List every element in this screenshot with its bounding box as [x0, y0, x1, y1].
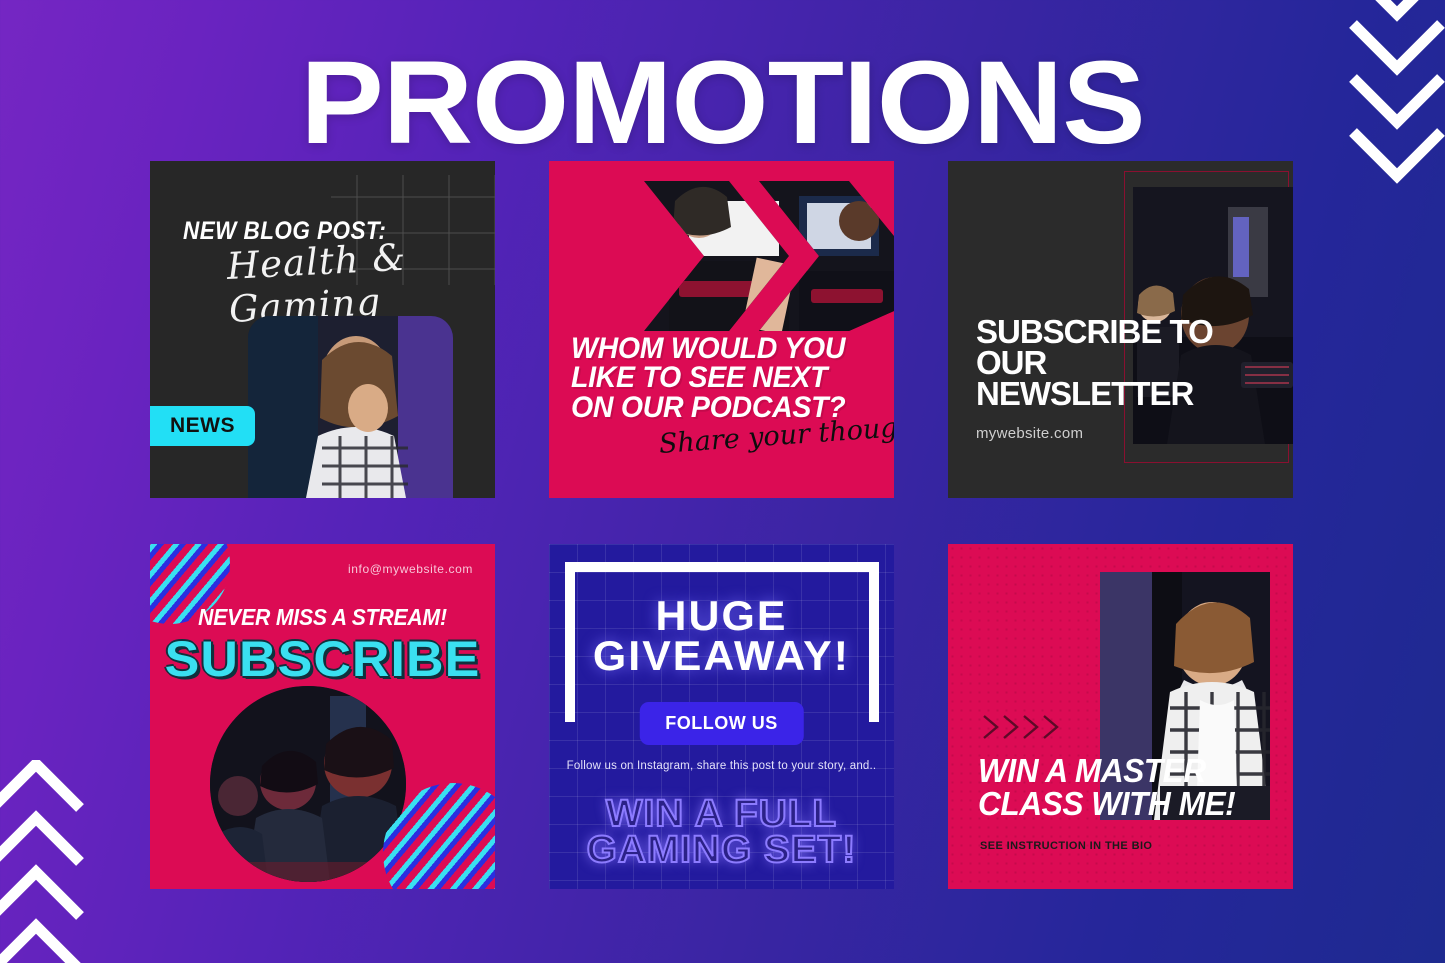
- stream-kicker: NEVER MISS A STREAM!: [164, 604, 481, 631]
- podcast-arrow-photo: [549, 161, 894, 351]
- promo-card-masterclass[interactable]: WIN A MASTER CLASS WITH ME! SEE INSTRUCT…: [948, 544, 1293, 889]
- promo-card-podcast[interactable]: WHOM WOULD YOU LIKE TO SEE NEXT ON OUR P…: [549, 161, 894, 498]
- newsletter-url: mywebsite.com: [976, 425, 1083, 442]
- giveaway-note: Follow us on Instagram, share this post …: [549, 758, 894, 775]
- giveaway-prize: WIN A FULL GAMING SET!: [549, 796, 894, 869]
- newsletter-headline: SUBSCRIBE TO OUR NEWSLETTER: [976, 316, 1216, 409]
- promo-card-never-miss-stream[interactable]: info@mywebsite.com NEVER MISS A STREAM! …: [150, 544, 495, 889]
- stream-circle-photo: [210, 686, 406, 882]
- promo-card-giveaway[interactable]: HUGE GIVEAWAY! FOLLOW US Follow us on In…: [549, 544, 894, 889]
- page-title: PROMOTIONS: [0, 44, 1445, 162]
- promo-card-grid: NEW BLOG POST: Health & Gaming: [150, 161, 1295, 889]
- promo-row-bottom: info@mywebsite.com NEVER MISS A STREAM! …: [150, 544, 1295, 889]
- stream-email: info@mywebsite.com: [348, 562, 473, 576]
- chevron-right-decoration: [980, 712, 1072, 742]
- follow-us-button[interactable]: FOLLOW US: [639, 702, 803, 745]
- masterclass-note: SEE INSTRUCTION IN THE BIO: [980, 840, 1152, 852]
- promo-card-newsletter[interactable]: SUBSCRIBE TO OUR NEWSLETTER mywebsite.co…: [948, 161, 1293, 498]
- blog-photo: [248, 316, 453, 498]
- podcast-headline: WHOM WOULD YOU LIKE TO SEE NEXT ON OUR P…: [571, 334, 866, 422]
- stream-headline: SUBSCRIBE: [150, 630, 495, 688]
- news-badge[interactable]: NEWS: [150, 406, 255, 446]
- masterclass-headline: WIN A MASTER CLASS WITH ME!: [978, 754, 1256, 820]
- giveaway-headline: HUGE GIVEAWAY!: [549, 596, 894, 676]
- chevron-up-stack-decoration: [0, 760, 110, 963]
- promo-card-blog-post[interactable]: NEW BLOG POST: Health & Gaming: [150, 161, 495, 498]
- promo-row-top: NEW BLOG POST: Health & Gaming: [150, 161, 1295, 498]
